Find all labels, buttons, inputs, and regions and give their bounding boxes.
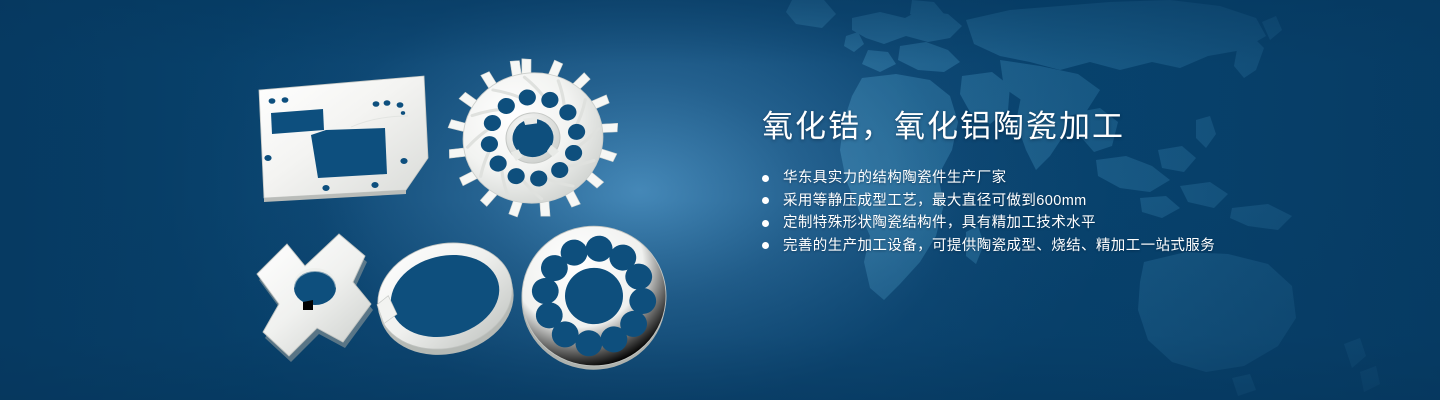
feature-text: 完善的生产加工设备，可提供陶瓷成型、烧结、精加工一站式服务 [783, 239, 1215, 254]
feature-text: 定制特殊形状陶瓷结构件，具有精加工技术水平 [783, 216, 1096, 231]
bullet-dot-icon [762, 220, 769, 227]
feature-list-item: 采用等静压成型工艺，最大直径可做到600mm [762, 194, 1382, 209]
feature-list-item: 定制特殊形状陶瓷结构件，具有精加工技术水平 [762, 216, 1382, 231]
feature-text: 采用等静压成型工艺，最大直径可做到600mm [783, 194, 1087, 209]
banner-copy: 氧化锆，氧化铝陶瓷加工 华东具实力的结构陶瓷件生产厂家 采用等静压成型工艺，最大… [762, 108, 1382, 253]
bullet-dot-icon [762, 242, 769, 249]
feature-list-item: 完善的生产加工设备，可提供陶瓷成型、烧结、精加工一站式服务 [762, 239, 1382, 254]
bullet-dot-icon [762, 175, 769, 182]
feature-text: 华东具实力的结构陶瓷件生产厂家 [783, 171, 1007, 186]
feature-list: 华东具实力的结构陶瓷件生产厂家 采用等静压成型工艺，最大直径可做到600mm 定… [762, 171, 1382, 253]
ceramic-plate-image [248, 72, 438, 202]
ceramic-ring-image [360, 226, 530, 368]
ceramic-impeller-image [443, 46, 623, 226]
feature-list-item: 华东具实力的结构陶瓷件生产厂家 [762, 171, 1382, 186]
ceramic-disc-image [512, 216, 677, 376]
bullet-dot-icon [762, 197, 769, 204]
banner-headline: 氧化锆，氧化铝陶瓷加工 [762, 108, 1382, 145]
hero-banner: 氧化锆，氧化铝陶瓷加工 华东具实力的结构陶瓷件生产厂家 采用等静压成型工艺，最大… [0, 0, 1440, 400]
product-gallery [0, 0, 720, 400]
